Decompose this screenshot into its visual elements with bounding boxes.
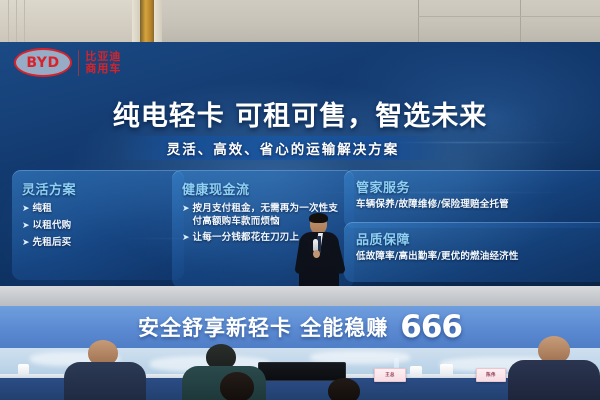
panel-quality-title: 品质保障 bbox=[356, 229, 598, 248]
panel-flexible-bullet-2: 以租代购 bbox=[33, 220, 72, 233]
panel-flexible-plan: 灵活方案 ➤ 纯租 ➤ 以租代购 ➤ 先租后买 bbox=[12, 170, 184, 280]
paper-cup bbox=[410, 366, 422, 377]
namecard-label: 陈伟 bbox=[486, 372, 495, 378]
table-namecard: 陈伟 bbox=[476, 368, 506, 382]
led-presentation-screen: BYD 比亚迪 商用车 纯电轻卡 可租可售，智选未来 灵活、高效、省心的运输解决… bbox=[0, 42, 600, 288]
slide-subtitle-bar: 灵活、高效、省心的运输解决方案 bbox=[118, 136, 448, 160]
panel-flexible-title: 灵活方案 bbox=[22, 179, 174, 198]
audience-member bbox=[62, 340, 148, 400]
slide-headline: 纯电轻卡 可租可售，智选未来 bbox=[0, 94, 600, 133]
speaker-hand bbox=[313, 250, 320, 258]
panel-cashflow-bullet-2: 让每一分钱都花在刀刃上 bbox=[193, 232, 300, 245]
brand-cn-line-1: 比亚迪 bbox=[85, 51, 121, 63]
panel-butler-title: 管家服务 bbox=[356, 177, 598, 196]
arrow-icon: ➤ bbox=[22, 220, 30, 233]
attendee-head bbox=[328, 378, 360, 400]
panel-quality-assurance: 品质保障 低故障率/高出勤率/更优的燃油经济性 bbox=[344, 222, 600, 282]
wall-seam bbox=[418, 16, 600, 17]
paper-cup bbox=[440, 364, 453, 376]
wall-stripe bbox=[24, 0, 25, 46]
list-item: ➤ 以租代购 bbox=[22, 220, 174, 233]
paper-cup bbox=[18, 364, 29, 375]
arrow-icon: ➤ bbox=[22, 203, 30, 216]
wall-seam bbox=[418, 0, 419, 46]
stage-apron bbox=[0, 286, 600, 308]
audience-member bbox=[508, 336, 600, 400]
pillar-trim-right bbox=[154, 0, 162, 46]
byd-oval-mark: BYD bbox=[14, 48, 72, 77]
wall-stripe bbox=[16, 0, 17, 46]
arrow-icon: ➤ bbox=[182, 203, 190, 216]
banner-slogan: 安全舒享新轻卡 全能稳赚 bbox=[138, 312, 388, 342]
byd-chinese-name: 比亚迪 商用车 bbox=[85, 51, 121, 74]
panel-flexible-bullet-1: 纯租 bbox=[33, 203, 52, 216]
arrow-icon: ➤ bbox=[182, 232, 190, 245]
venue-wall bbox=[0, 0, 600, 46]
wall-stripe bbox=[8, 0, 9, 46]
panel-flexible-bullet-3: 先租后买 bbox=[33, 237, 72, 250]
arrow-icon: ➤ bbox=[22, 237, 30, 250]
table-namecard: 王总 bbox=[374, 368, 406, 382]
panel-cashflow-title: 健康现金流 bbox=[182, 179, 344, 198]
brand-cn-line-2: 商用车 bbox=[85, 63, 121, 75]
speaker-presenter bbox=[296, 214, 342, 288]
list-item: ➤ 纯租 bbox=[22, 203, 174, 216]
wall-seam bbox=[520, 0, 521, 46]
speaker-hair bbox=[309, 213, 328, 223]
panel-butler-line-1: 车辆保养/故障维修/保险理赔全托管 bbox=[356, 199, 598, 212]
event-photo-stage: BYD 比亚迪 商用车 纯电轻卡 可租可售，智选未来 灵活、高效、省心的运输解决… bbox=[0, 0, 600, 400]
attendee-suit bbox=[64, 362, 146, 400]
wall-left-marble bbox=[0, 0, 146, 46]
logo-divider bbox=[78, 50, 79, 76]
panel-butler-service: 管家服务 车辆保养/故障维修/保险理赔全托管 bbox=[344, 170, 600, 228]
slide-subtitle: 灵活、高效、省心的运输解决方案 bbox=[167, 138, 400, 158]
list-item: ➤ 先租后买 bbox=[22, 237, 174, 250]
byd-logo: BYD 比亚迪 商用车 bbox=[14, 48, 121, 77]
attendee-head bbox=[220, 372, 254, 400]
gold-pillar bbox=[140, 0, 154, 46]
pillar-trim-left bbox=[132, 0, 140, 46]
banner-number: 666 bbox=[400, 309, 462, 345]
panel-quality-line-1: 低故障率/高出勤率/更优的燃油经济性 bbox=[356, 251, 598, 264]
audience-member bbox=[206, 372, 266, 400]
audience-member bbox=[320, 378, 368, 400]
attendee-suit bbox=[508, 360, 600, 400]
namecard-label: 王总 bbox=[385, 372, 394, 378]
